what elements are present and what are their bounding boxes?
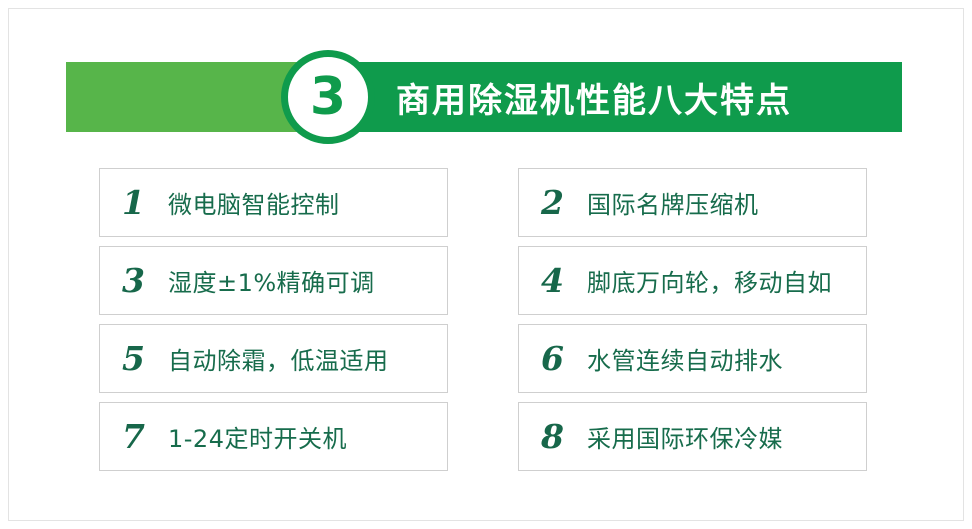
section-header-banner: 3 商用除湿机性能八大特点 bbox=[66, 62, 902, 132]
feature-label: 采用国际环保冷媒 bbox=[587, 419, 783, 454]
feature-number: 5 bbox=[122, 342, 154, 375]
feature-number: 1 bbox=[122, 186, 154, 219]
feature-number: 2 bbox=[541, 186, 573, 219]
feature-card: 6 水管连续自动排水 bbox=[518, 324, 867, 393]
feature-card: 4 脚底万向轮，移动自如 bbox=[518, 246, 867, 315]
feature-number: 8 bbox=[541, 420, 573, 453]
feature-label: 水管连续自动排水 bbox=[587, 341, 783, 376]
section-number-badge: 3 bbox=[281, 50, 375, 144]
feature-label: 微电脑智能控制 bbox=[168, 185, 340, 220]
feature-card: 2 国际名牌压缩机 bbox=[518, 168, 867, 237]
feature-label: 脚底万向轮，移动自如 bbox=[587, 263, 832, 298]
feature-label: 湿度±1%精确可调 bbox=[168, 263, 375, 298]
feature-card: 5 自动除霜，低温适用 bbox=[99, 324, 448, 393]
feature-number: 7 bbox=[122, 420, 154, 453]
feature-label: 国际名牌压缩机 bbox=[587, 185, 759, 220]
feature-card: 1 微电脑智能控制 bbox=[99, 168, 448, 237]
section-number-label: 3 bbox=[310, 71, 346, 123]
feature-number: 3 bbox=[122, 264, 154, 297]
feature-label: 自动除霜，低温适用 bbox=[168, 341, 389, 376]
feature-card: 8 采用国际环保冷媒 bbox=[518, 402, 867, 471]
section-title: 商用除湿机性能八大特点 bbox=[396, 62, 792, 132]
feature-card: 3 湿度±1%精确可调 bbox=[99, 246, 448, 315]
feature-number: 6 bbox=[541, 342, 573, 375]
page-root: 3 商用除湿机性能八大特点 1 微电脑智能控制 2 国际名牌压缩机 3 湿度±1… bbox=[0, 0, 972, 529]
feature-label: 1-24定时开关机 bbox=[168, 419, 347, 454]
feature-number: 4 bbox=[541, 264, 573, 297]
feature-card: 7 1-24定时开关机 bbox=[99, 402, 448, 471]
feature-list: 1 微电脑智能控制 2 国际名牌压缩机 3 湿度±1%精确可调 4 脚底万向轮，… bbox=[99, 168, 867, 471]
